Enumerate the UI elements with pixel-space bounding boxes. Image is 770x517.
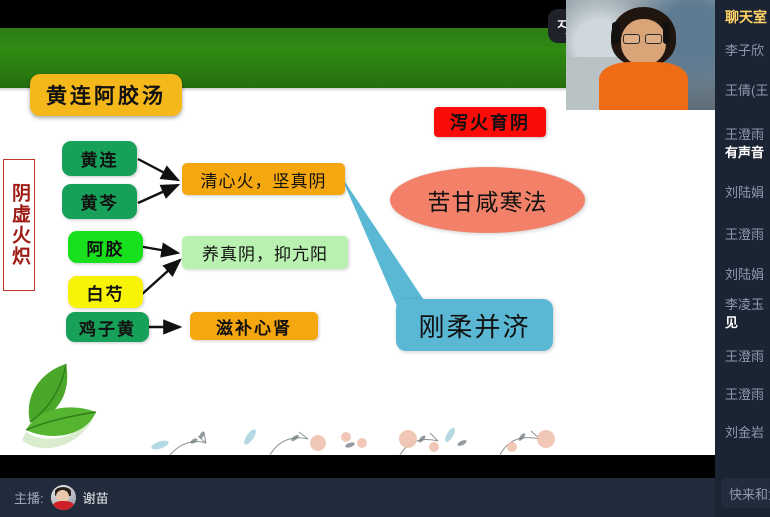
pip-glasses-right [645,34,662,44]
chat-message: 王澄雨 [725,126,764,144]
pip-body [599,62,688,110]
pip-headphone-right [663,22,670,44]
herb-box-1: 黄芩 [62,184,137,219]
effect-box-1: 养真阴，抑亢阳 [182,236,348,269]
chat-tabs[interactable]: 聊天室 [715,0,770,32]
host-name: 谢苗 [83,488,109,507]
live-stream-page: 黄连阿胶汤 阴虚火炽 黄连 黄芩 阿胶 白芍 [0,0,770,517]
pip-glasses-left [623,34,640,44]
host-label: 主播: [14,488,44,507]
chat-message-list[interactable]: 李子欣 王倩(王 王澄雨 有声音 刘陆娟 王澄雨 刘陆娟 李凌玉 见 王澄雨 王… [715,34,770,454]
chat-message: 王倩(王 [725,82,768,100]
slide-left-label: 阴虚火炽 [3,159,35,291]
herb-box-2: 阿胶 [68,231,143,263]
chat-message: 王澄雨 [725,386,764,404]
tab-chatroom[interactable]: 聊天室 [725,7,767,27]
chat-message: 刘金岩 [725,424,764,442]
slide-ellipse: 苦甘咸寒法 [390,167,585,233]
chat-input[interactable]: 快来和大家聊天吧 [721,478,770,508]
host-avatar[interactable] [51,485,76,510]
leaf-decoration-icon [4,360,114,455]
herb-box-0: 黄连 [62,141,137,176]
chat-message: 王澄雨 [725,226,764,244]
chat-message: 刘陆娟 [725,184,764,202]
herb-box-4: 鸡子黄 [66,312,149,342]
video-stage[interactable]: 黄连阿胶汤 阴虚火炽 黄连 黄芩 阿胶 白芍 [0,0,715,517]
effect-box-2: 滋补心肾 [190,312,318,340]
chat-message: 李凌玉 [725,296,764,314]
chat-panel[interactable]: 聊天室 李子欣 王倩(王 王澄雨 有声音 刘陆娟 王澄雨 刘陆娟 李凌玉 见 王… [715,0,770,517]
chat-message-text: 见 [725,314,738,332]
chat-message: 刘陆娟 [725,266,764,284]
stage-letterbox-bottom [0,455,715,478]
slide-title: 黄连阿胶汤 [30,74,182,116]
herb-box-3: 白芍 [68,276,143,308]
floral-decoration-icon [150,413,570,455]
chat-message: 王澄雨 [725,348,764,366]
slide-red-box: 泻火育阴 [434,107,546,137]
effect-box-0: 清心火，坚真阴 [182,163,345,195]
slide-callout: 刚柔并济 [396,299,553,351]
host-camera-pip[interactable] [566,0,715,110]
pip-headphone-left [612,22,619,44]
host-bar: 主播: 谢苗 [0,478,715,517]
chat-message-text: 有声音 [725,144,764,162]
chat-message: 李子欣 [725,42,764,60]
